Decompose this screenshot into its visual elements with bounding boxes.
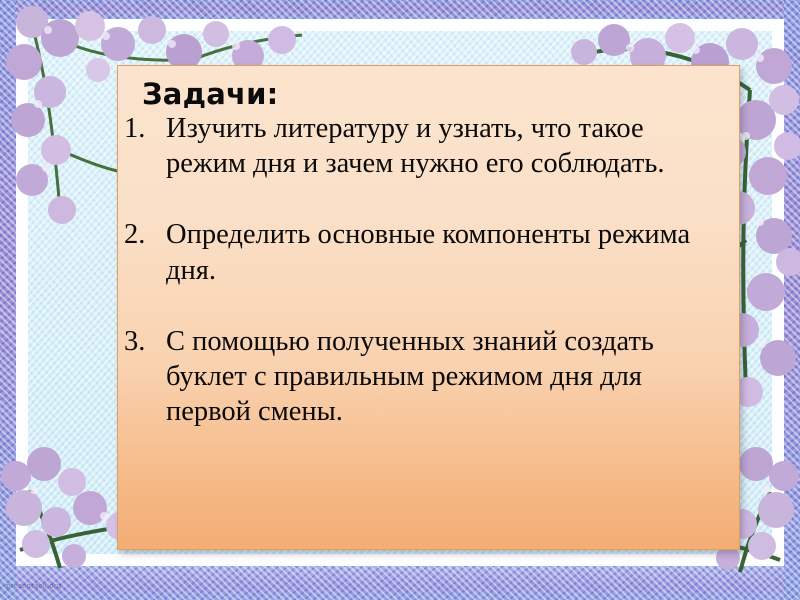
border-band-left — [0, 0, 16, 600]
border-band-bottom — [0, 566, 800, 600]
list-item-number: 3. — [124, 324, 160, 359]
slide-canvas: Задачи: 1. Изучить литературу и узнать, … — [0, 0, 800, 600]
list-item-number: 1. — [124, 111, 160, 146]
list-item-text: Определить основные компоненты режима дн… — [166, 219, 690, 285]
border-band-right — [784, 0, 800, 600]
border-band-top — [0, 0, 800, 19]
list-item-number: 2. — [124, 217, 160, 252]
watermark-text: prezentacii.org — [6, 582, 61, 590]
list-item-text: Изучить литературу и узнать, что такое р… — [166, 113, 664, 179]
task-list: 1. Изучить литературу и узнать, что тако… — [124, 111, 723, 429]
list-item: 3. С помощью полученных знаний создать б… — [124, 324, 723, 430]
page-title: Задачи: — [142, 80, 723, 109]
list-item: 1. Изучить литературу и узнать, что тако… — [124, 111, 723, 181]
content-card: Задачи: 1. Изучить литературу и узнать, … — [117, 65, 740, 550]
list-item: 2. Определить основные компоненты режима… — [124, 217, 723, 287]
list-item-text: С помощью полученных знаний создать букл… — [166, 326, 654, 427]
